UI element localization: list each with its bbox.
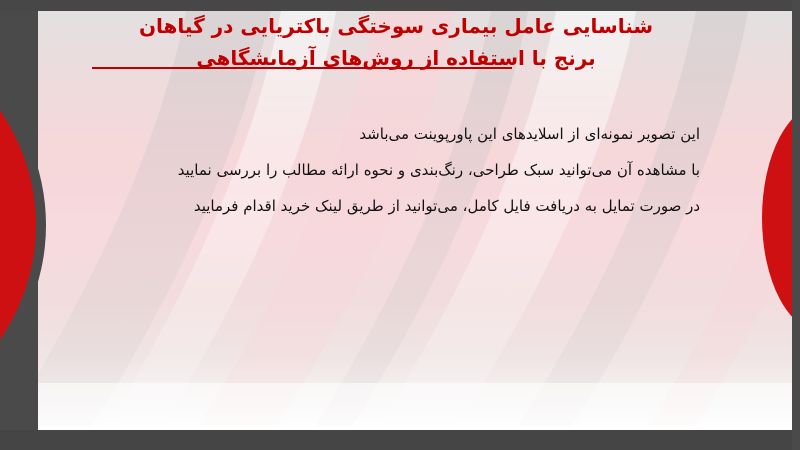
presentation-slide: شناسایی عامل بیماری سوختگی باکتریایی در … bbox=[0, 0, 800, 450]
slide-title-line-1: شناسایی عامل بیماری سوختگی باکتریایی در … bbox=[40, 10, 752, 42]
slide-title: شناسایی عامل بیماری سوختگی باکتریایی در … bbox=[40, 10, 752, 74]
title-underline-rule bbox=[92, 67, 512, 69]
slide-body-line-2: با مشاهده آن می‌توانید سبک طراحی، رنگ‌بن… bbox=[40, 152, 700, 188]
frame-bottom-bar bbox=[0, 430, 800, 450]
slide-body: این تصویر نمونه‌ای از اسلایدهای این پاور… bbox=[40, 116, 700, 224]
slide-body-line-1: این تصویر نمونه‌ای از اسلایدهای این پاور… bbox=[40, 116, 700, 152]
slide-body-line-3: در صورت تمایل به دریافت فایل کامل، می‌تو… bbox=[40, 188, 700, 224]
slide-title-line-2: برنج با استفاده از روش‌های آزمایشگاهی bbox=[40, 42, 752, 74]
frame-right-bar bbox=[792, 0, 800, 450]
